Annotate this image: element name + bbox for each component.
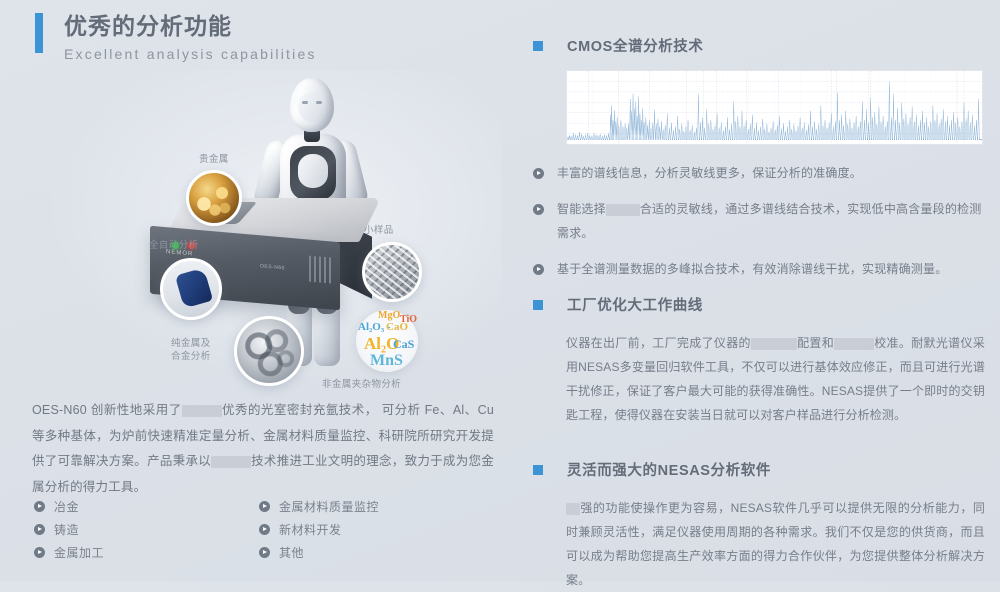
section-title: 工厂优化大工作曲线: [567, 294, 703, 315]
section-heading-cmos: CMOS全谱分析技术: [533, 35, 704, 56]
tag-label: 金属加工: [54, 544, 104, 561]
poster-page: 优秀的分析功能 Excellent analysis capabilities: [0, 0, 1000, 581]
photo-precious-metal: [186, 170, 242, 226]
square-marker-icon: [533, 300, 543, 310]
product-description-paragraph: OES-N60 创新性地采用了优秀的光室密封充氩技术， 可分析 Fe、Al、Cu…: [32, 398, 494, 501]
chemical-formula-bubble: MgO TiO Al₂O₃ - CaO Al₂O CaS MnS: [356, 310, 418, 372]
play-bullet-icon: [533, 204, 544, 215]
tag-item[interactable]: 金属加工: [34, 544, 259, 561]
right-column: CMOS全谱分析技术 丰富的谱线信息，分析灵敏线更多，保证分析的准确度。 智能选…: [533, 0, 985, 581]
tag-label: 冶金: [54, 498, 79, 515]
hero-illustration: NEMOR OES-N60 MgO TiO Al₂O₃ - CaO Al₂O C…: [52, 70, 502, 380]
photo-automation-robot-arm: [160, 258, 222, 320]
feature-text-part: 丰富的谱线信息，分析灵敏线更多，保证分析的准确度。: [557, 166, 862, 180]
robot-head: [290, 78, 334, 132]
section-paragraph: 仪器在出厂前，工厂完成了仪器的配置和校准。耐默光谱仪采用NESAS多变量回归软件…: [533, 331, 985, 427]
formula-mns: MnS: [370, 352, 403, 370]
para-part: 仪器在出厂前，工厂完成了仪器的: [566, 336, 751, 350]
feature-text-part: 智能选择: [557, 202, 606, 216]
play-bullet-icon: [533, 264, 544, 275]
tag-item[interactable]: 冶金: [34, 498, 259, 515]
play-bullet-icon: [34, 547, 45, 558]
section-paragraph: 强的功能使操作更为容易，NESAS软件几乎可以提供无限的分析能力，同时兼顾灵活性…: [533, 496, 985, 592]
formula-mgo: MgO: [378, 310, 400, 321]
feature-item: 丰富的谱线信息，分析灵敏线更多，保证分析的准确度。: [533, 162, 985, 185]
photo-small-samples: [362, 242, 422, 302]
page-subtitle: Excellent analysis capabilities: [64, 46, 502, 62]
spectrum-chart: [566, 70, 983, 145]
section-title: 灵活而强大的NESAS分析软件: [567, 459, 771, 480]
section-heading-nesas-software: 灵活而强大的NESAS分析软件: [533, 459, 985, 480]
redacted-text-block: [751, 338, 797, 350]
tag-label: 铸造: [54, 521, 79, 538]
page-title-block: 优秀的分析功能 Excellent analysis capabilities: [32, 0, 502, 62]
play-bullet-icon: [259, 547, 270, 558]
photo-pure-metal-alloy: [234, 316, 304, 386]
feature-text: 基于全谱测量数据的多峰拟合技术，有效消除谱线干扰，实现精确测量。: [557, 258, 985, 281]
para-part: 强的功能使操作更为容易，NESAS软件几乎可以提供无限的分析能力，同时兼顾灵活性…: [566, 501, 985, 587]
feature-item: 基于全谱测量数据的多峰拟合技术，有效消除谱线干扰，实现精确测量。: [533, 258, 985, 281]
redacted-text-block: [606, 204, 640, 216]
machine-vent-grille: [309, 256, 331, 284]
section-factory-curve: 工厂优化大工作曲线 仪器在出厂前，工厂完成了仪器的配置和校准。耐默光谱仪采用NE…: [533, 294, 985, 427]
cmos-feature-list: 丰富的谱线信息，分析灵敏线更多，保证分析的准确度。 智能选择合适的灵敏线，通过多…: [533, 162, 985, 295]
label-precious-metal: 贵金属: [199, 154, 229, 167]
title-accent-bar: [35, 13, 43, 53]
play-bullet-icon: [34, 501, 45, 512]
machine-model-label: OES-N60: [260, 263, 285, 271]
label-full-auto-analysis: 全自动分析: [149, 240, 199, 253]
formula-cas: CaS: [393, 337, 414, 352]
tag-item[interactable]: 铸造: [34, 521, 259, 538]
feature-text: 智能选择合适的灵敏线，通过多谱线结合技术，实现低中高含量段的检测需求。: [557, 198, 985, 245]
application-tag-list: 冶金 金属材料质量监控 铸造 新材料开发 金属加工 其他: [34, 498, 464, 561]
label-pure-metal-alloy: 纯金属及 合金分析: [171, 338, 211, 364]
spectrum-chart-svg: [567, 71, 982, 144]
page-title: 优秀的分析功能: [64, 12, 502, 41]
square-marker-icon: [533, 41, 543, 51]
label-small-sample: 小样品: [364, 225, 394, 238]
tag-item[interactable]: 新材料开发: [259, 521, 464, 538]
square-marker-icon: [533, 465, 543, 475]
tag-label: 金属材料质量监控: [279, 498, 379, 515]
feature-text-part: 基于全谱测量数据的多峰拟合技术，有效消除谱线干扰，实现精确测量。: [557, 262, 947, 276]
redacted-text-block: [211, 456, 251, 468]
desc-part-1: OES-N60 创新性地采用了: [32, 403, 182, 417]
formula-cao: CaO: [386, 321, 408, 333]
para-part: 配置和: [797, 336, 834, 350]
play-bullet-icon: [533, 168, 544, 179]
section-title: CMOS全谱分析技术: [567, 35, 704, 56]
tag-item[interactable]: 其他: [259, 544, 464, 561]
redacted-text-block: [566, 503, 580, 515]
section-heading-factory-curve: 工厂优化大工作曲线: [533, 294, 985, 315]
tag-label: 其他: [279, 544, 304, 561]
tag-item[interactable]: 金属材料质量监控: [259, 498, 464, 515]
label-nonmetal-inclusion: 非金属夹杂物分析: [322, 379, 401, 392]
section-nesas-software: 灵活而强大的NESAS分析软件 强的功能使操作更为容易，NESAS软件几乎可以提…: [533, 459, 985, 592]
redacted-text-block: [182, 405, 222, 417]
feature-item: 智能选择合适的灵敏线，通过多谱线结合技术，实现低中高含量段的检测需求。: [533, 198, 985, 245]
tag-label: 新材料开发: [279, 521, 342, 538]
left-column: 优秀的分析功能 Excellent analysis capabilities: [32, 0, 502, 581]
play-bullet-icon: [34, 524, 45, 535]
play-bullet-icon: [259, 524, 270, 535]
redacted-text-block: [834, 338, 874, 350]
play-bullet-icon: [259, 501, 270, 512]
feature-text: 丰富的谱线信息，分析灵敏线更多，保证分析的准确度。: [557, 162, 985, 185]
